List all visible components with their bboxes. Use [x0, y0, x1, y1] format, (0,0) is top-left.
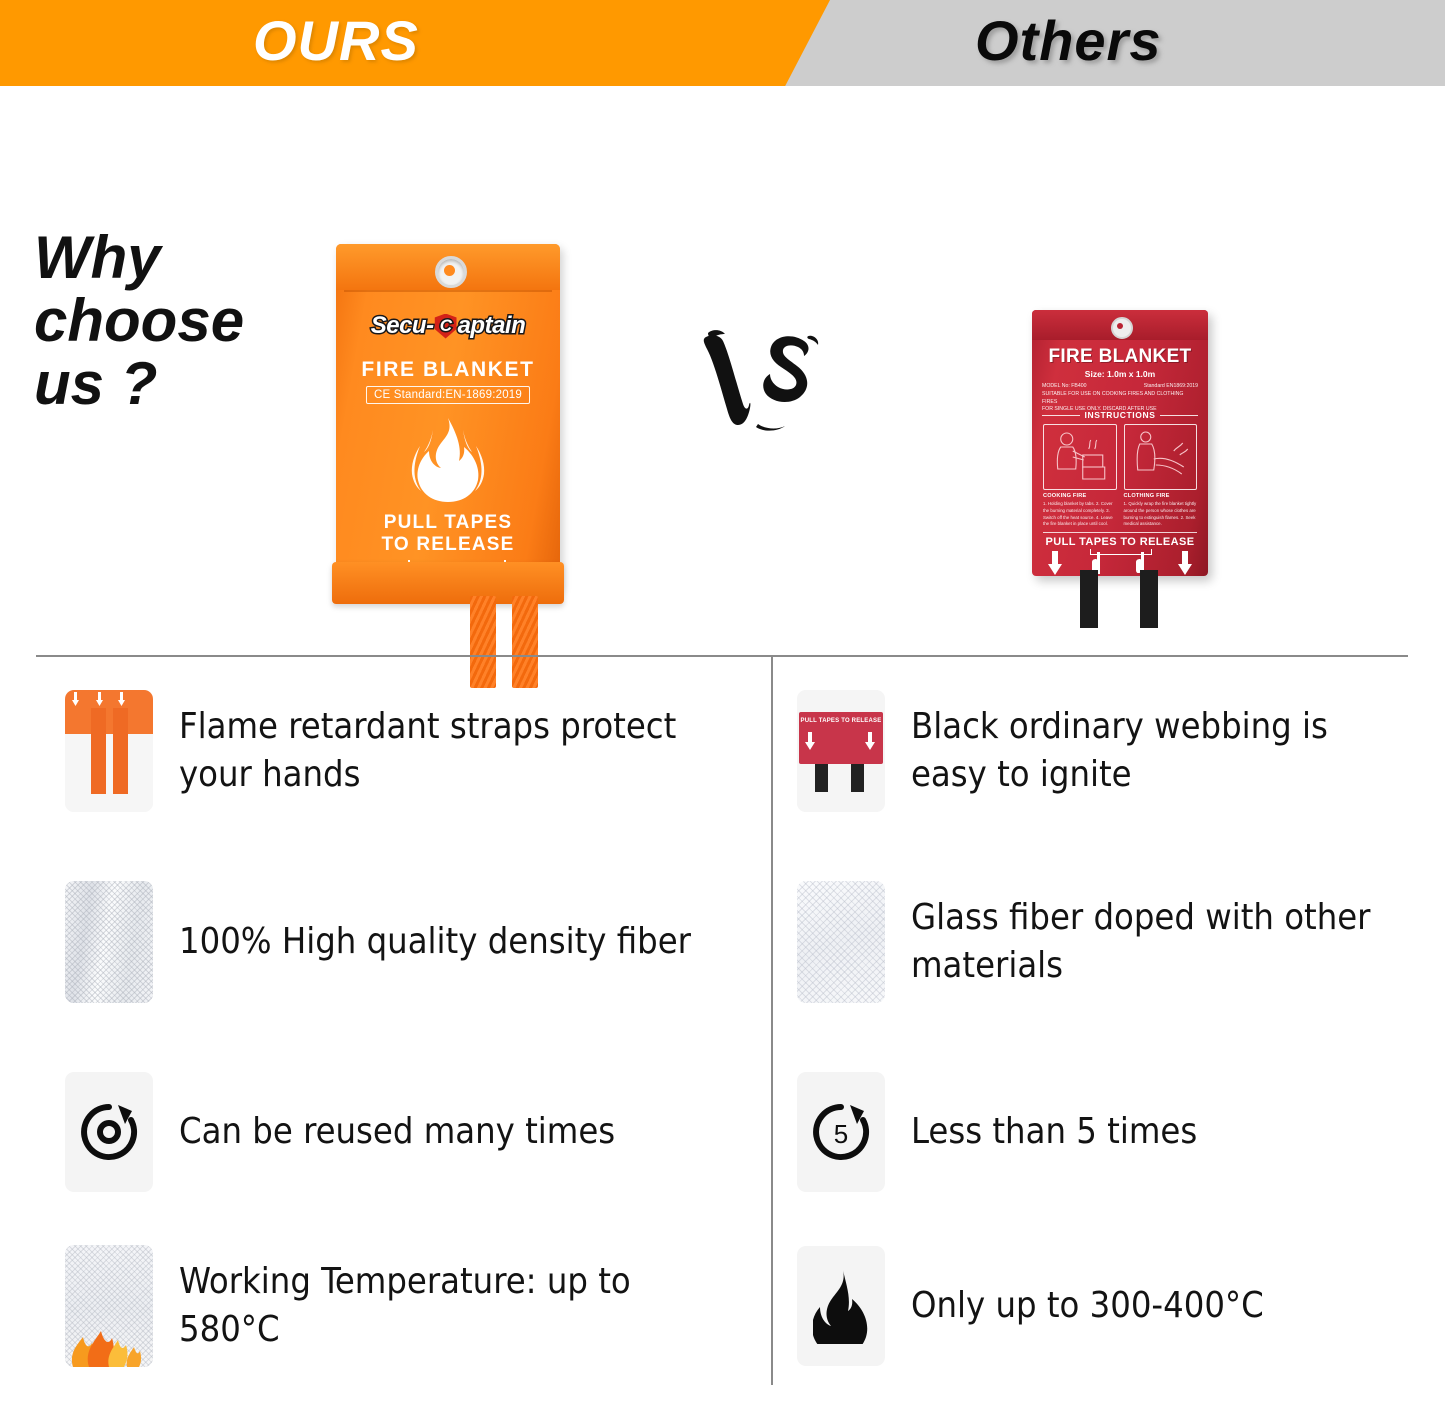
dense-fiber-thumbnail — [65, 881, 153, 1003]
cooking-fire-title: COOKING FIRE — [1043, 493, 1117, 499]
five-times-reuse-icon: 5 — [797, 1072, 885, 1192]
ours-product-title: FIRE BLANKET — [332, 358, 564, 382]
down-arrow-icon — [865, 732, 875, 750]
hang-hole-grommet-icon — [1111, 317, 1133, 339]
cooking-fire-steps: 1. Holding blanket by tabs. 2. Cover the… — [1043, 501, 1117, 528]
others-instructions-header: INSTRUCTIONS — [1042, 410, 1198, 420]
infinite-reuse-icon — [65, 1072, 153, 1192]
ours-standard-badge: CE Standard:EN-1869:2019 — [366, 386, 530, 404]
others-product-title: FIRE BLANKET — [1032, 346, 1208, 368]
others-instruction-captions: COOKING FIRE 1. Holding blanket by tabs.… — [1043, 493, 1197, 528]
table-cell-ours: Working Temperature: up to 580°C — [36, 1228, 771, 1383]
down-arrow-icon — [71, 692, 80, 706]
others-instructions-label: INSTRUCTIONS — [1085, 410, 1156, 420]
table-cell-others: 5 Less than 5 times — [771, 1038, 1408, 1226]
others-product-size: Size: 1.0m x 1.0m — [1032, 369, 1208, 379]
feature-text-ours: Can be reused many times — [179, 1108, 615, 1156]
table-cell-others: Glass fiber doped with other materials — [771, 847, 1408, 1036]
others-black-strap — [1140, 570, 1158, 628]
thumbnail-pull-label: PULL TAPES TO RELEASE — [800, 718, 882, 724]
hero-section: Why choose us ? Secu- C aptain FIRE BLAN… — [0, 86, 1445, 646]
others-standard: Standard EN1869:2019 — [1144, 383, 1198, 391]
comparison-table: Flame retardant straps protect your hand… — [36, 655, 1408, 1385]
feature-text-ours: Working Temperature: up to 580°C — [179, 1258, 699, 1353]
feature-text-others: Black ordinary webbing is easy to ignite — [911, 703, 1408, 798]
svg-text:5: 5 — [834, 1119, 848, 1149]
others-divider-rule — [1043, 532, 1197, 533]
ours-pull-line2: TO RELEASE — [332, 534, 564, 556]
brand-name-prefix: Secu- — [371, 312, 434, 340]
down-arrow-icon — [117, 692, 126, 706]
ours-package-seam — [344, 290, 552, 292]
table-cell-others: Only up to 300-400°C — [771, 1228, 1408, 1383]
others-model-number: MODEL No: FB400 — [1042, 383, 1087, 391]
others-product-package: FIRE BLANKET Size: 1.0m x 1.0m MODEL No:… — [1032, 310, 1208, 604]
header-others-label: Others — [975, 0, 1162, 86]
clothing-fire-illustration-icon — [1124, 424, 1198, 490]
feature-text-others: Glass fiber doped with other materials — [911, 894, 1408, 989]
ours-pull-instruction: PULL TAPES TO RELEASE — [332, 512, 564, 556]
brand-name-suffix: aptain — [458, 312, 526, 340]
page-title: Why choose us ? — [34, 226, 324, 415]
hang-hole-grommet-icon — [435, 256, 467, 288]
table-row: Flame retardant straps protect your hand… — [36, 657, 1408, 845]
fiber-with-flame-thumbnail — [65, 1245, 153, 1367]
header-ours-label: OURS — [253, 0, 419, 86]
others-instruction-panels — [1043, 424, 1197, 490]
down-arrow-icon — [1048, 551, 1062, 575]
flame-graphic-icon — [400, 416, 496, 507]
table-row: 100% High quality density fiber Glass fi… — [36, 847, 1408, 1036]
feature-text-ours: 100% High quality density fiber — [179, 918, 691, 966]
clothing-fire-title: CLOTHING FIRE — [1124, 493, 1198, 499]
down-arrow-icon — [1178, 551, 1192, 575]
doped-glass-fiber-thumbnail — [797, 881, 885, 1003]
others-black-strap — [1080, 570, 1098, 628]
table-cell-ours: Flame retardant straps protect your hand… — [36, 657, 771, 845]
shield-letter: C — [435, 314, 457, 339]
flame-icon — [797, 1246, 885, 1366]
cooking-fire-illustration-icon — [1043, 424, 1117, 490]
down-arrow-icon — [805, 732, 815, 750]
versus-icon — [700, 329, 822, 431]
feature-text-others: Only up to 300-400°C — [911, 1282, 1264, 1330]
table-row: Can be reused many times 5 Less than 5 t… — [36, 1038, 1408, 1226]
down-arrow-icon — [95, 692, 104, 706]
shield-icon: C — [435, 314, 457, 339]
table-cell-ours: Can be reused many times — [36, 1038, 771, 1226]
table-row: Working Temperature: up to 580°C Only up… — [36, 1228, 1408, 1383]
black-webbing-thumbnail: PULL TAPES TO RELEASE — [797, 690, 885, 812]
table-cell-others: PULL TAPES TO RELEASE Black ordinary web… — [771, 657, 1408, 845]
ours-product-package: Secu- C aptain FIRE BLANKET CE Standard:… — [332, 244, 564, 589]
others-usage-line1: SUITABLE FOR USE ON COOKING FIRES AND CL… — [1042, 391, 1198, 407]
others-pull-instruction: PULL TAPES TO RELEASE — [1032, 536, 1208, 548]
comparison-header-banner: OURS Others — [0, 0, 1445, 86]
brand-logo: Secu- C aptain — [371, 312, 526, 340]
ours-pull-line1: PULL TAPES — [332, 512, 564, 534]
feature-text-ours: Flame retardant straps protect your hand… — [179, 703, 699, 798]
table-cell-ours: 100% High quality density fiber — [36, 847, 771, 1036]
feature-text-others: Less than 5 times — [911, 1108, 1197, 1156]
clothing-fire-steps: 1. Quickly wrap the fire blanket tightly… — [1124, 501, 1198, 528]
others-arrow-row — [1048, 550, 1192, 576]
orange-strap-thumbnail — [65, 690, 153, 812]
